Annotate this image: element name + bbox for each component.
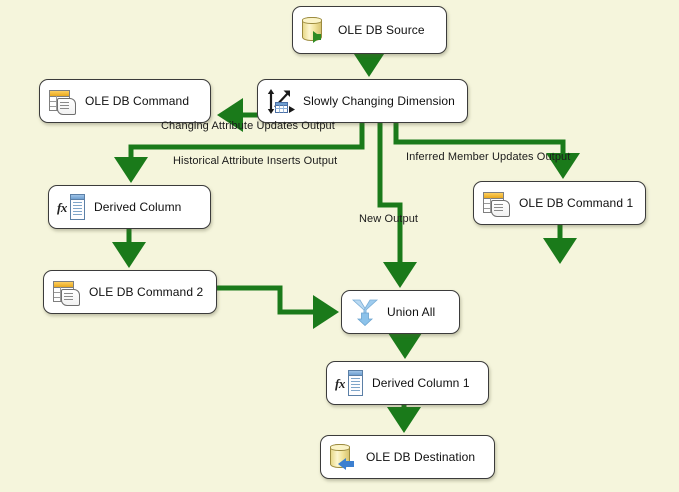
- node-slowly-changing-dimension[interactable]: Slowly Changing Dimension: [257, 79, 468, 123]
- connector-inferred-member: [396, 123, 563, 174]
- node-label: Derived Column: [94, 200, 181, 214]
- node-label: OLE DB Source: [338, 23, 425, 37]
- database-cylinder-out-icon: [301, 15, 331, 45]
- edge-label-new-output: New Output: [359, 213, 418, 225]
- derived-column-fx-icon: fx: [57, 192, 87, 222]
- table-scroll-icon: [48, 86, 78, 116]
- node-label: OLE DB Destination: [366, 450, 475, 464]
- node-derived-column[interactable]: fx Derived Column: [48, 185, 211, 229]
- data-flow-canvas[interactable]: Changing Attribute Updates Output Histor…: [0, 0, 679, 492]
- node-ole-db-command-1[interactable]: OLE DB Command 1: [473, 181, 646, 225]
- node-union-all[interactable]: Union All: [341, 290, 460, 334]
- derived-column-fx-icon: fx: [335, 368, 365, 398]
- node-ole-db-command-2[interactable]: OLE DB Command 2: [43, 270, 217, 314]
- node-ole-db-command[interactable]: OLE DB Command: [39, 79, 211, 123]
- node-label: Union All: [387, 305, 435, 319]
- connector-command2-to-union: [217, 288, 334, 312]
- table-scroll-icon: [52, 277, 82, 307]
- slowly-changing-dimension-icon: [266, 86, 296, 116]
- edge-label-historical-attribute-inserts-output: Historical Attribute Inserts Output: [173, 155, 337, 167]
- node-ole-db-destination[interactable]: OLE DB Destination: [320, 435, 495, 479]
- node-label: OLE DB Command: [85, 94, 189, 108]
- table-scroll-icon: [482, 188, 512, 218]
- node-label: Slowly Changing Dimension: [303, 94, 455, 108]
- union-all-merge-icon: [350, 297, 380, 327]
- node-derived-column-1[interactable]: fx Derived Column 1: [326, 361, 489, 405]
- database-cylinder-in-icon: [329, 442, 359, 472]
- node-label: Derived Column 1: [372, 376, 470, 390]
- connector-new-output: [380, 123, 400, 283]
- edge-label-changing-attribute-updates-output: Changing Attribute Updates Output: [161, 120, 335, 132]
- node-label: OLE DB Command 2: [89, 285, 203, 299]
- connector-layer: [0, 0, 679, 492]
- node-ole-db-source[interactable]: OLE DB Source: [292, 6, 447, 54]
- edge-label-inferred-member-updates-output: Inferred Member Updates Output: [406, 151, 570, 163]
- node-label: OLE DB Command 1: [519, 196, 633, 210]
